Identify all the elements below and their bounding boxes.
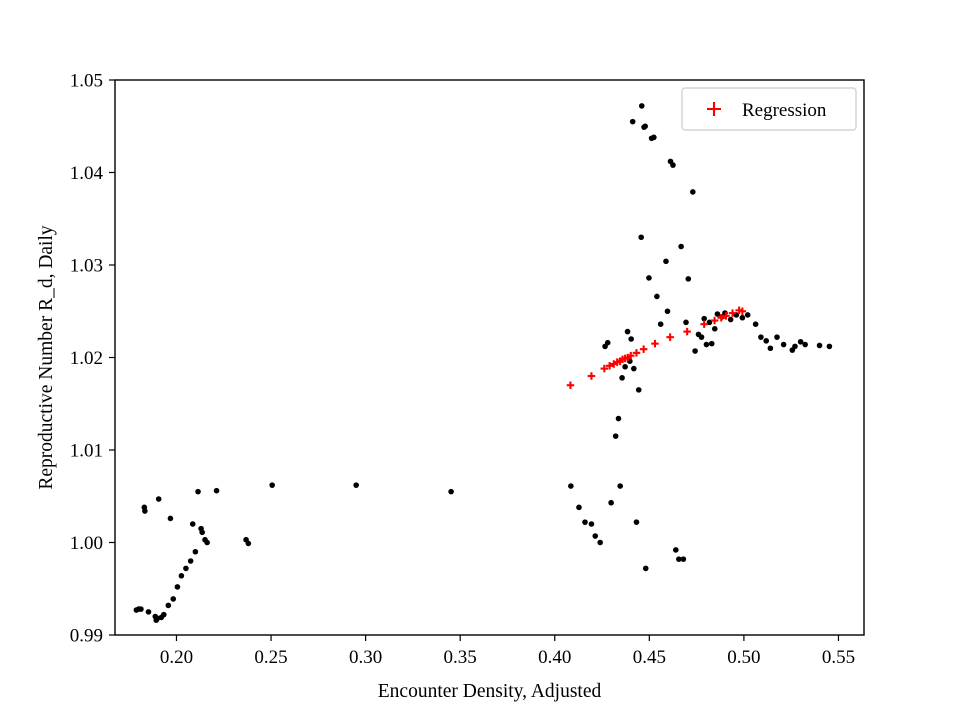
data-point <box>792 344 798 350</box>
data-point <box>161 612 167 618</box>
y-tick-label: 1.00 <box>70 533 103 554</box>
data-point <box>712 326 718 332</box>
data-point <box>665 308 671 314</box>
x-tick-label: 0.45 <box>633 647 666 668</box>
x-tick-label: 0.30 <box>349 647 382 668</box>
data-point <box>642 123 648 129</box>
y-tick-label: 1.05 <box>70 71 103 92</box>
y-tick-label: 1.04 <box>70 163 104 184</box>
y-tick-label: 0.99 <box>70 626 103 647</box>
data-point <box>576 505 582 511</box>
data-point <box>740 315 746 321</box>
data-point <box>246 541 252 547</box>
data-point <box>353 482 359 488</box>
x-tick-label: 0.50 <box>727 647 760 668</box>
data-point <box>651 135 657 141</box>
regression-marker <box>651 340 659 348</box>
data-point <box>199 530 205 536</box>
data-point <box>646 275 652 281</box>
data-point <box>758 334 764 340</box>
y-tick-label: 1.02 <box>70 348 103 369</box>
data-point <box>673 547 679 553</box>
data-point <box>802 342 808 348</box>
data-point <box>190 521 196 527</box>
data-point <box>638 234 644 240</box>
data-point <box>683 320 689 326</box>
x-tick-label: 0.20 <box>160 647 193 668</box>
data-point <box>622 364 628 370</box>
regression-marker <box>588 372 596 380</box>
data-point <box>625 329 631 335</box>
y-tick-label: 1.01 <box>70 441 103 462</box>
data-point <box>142 508 148 514</box>
data-point <box>681 556 687 562</box>
x-tick-label: 0.35 <box>444 647 477 668</box>
data-point <box>781 342 787 348</box>
data-point <box>188 558 194 564</box>
x-tick-label: 0.25 <box>254 647 287 668</box>
data-point <box>193 549 199 555</box>
data-points-group <box>134 103 833 623</box>
data-point <box>774 334 780 340</box>
axes-frame-rect <box>115 80 864 635</box>
data-point <box>179 573 185 579</box>
data-point <box>582 519 588 525</box>
data-point <box>753 321 759 327</box>
data-point <box>631 366 637 372</box>
data-point <box>619 375 625 381</box>
data-point <box>639 103 645 109</box>
data-point <box>827 344 833 350</box>
data-point <box>685 276 691 282</box>
data-point <box>589 521 595 527</box>
legend-entry-label: Regression <box>742 100 827 121</box>
plot-canvas: 0.200.250.300.350.400.450.500.55 0.991.0… <box>0 0 960 720</box>
data-point <box>715 311 721 317</box>
data-point <box>214 488 220 494</box>
data-point <box>166 603 172 609</box>
data-point <box>745 312 751 318</box>
data-point <box>634 519 640 525</box>
data-point <box>146 609 152 615</box>
regression-marker <box>567 382 575 390</box>
data-point <box>763 338 769 344</box>
data-point <box>709 341 715 347</box>
data-point <box>817 343 823 349</box>
data-point <box>663 259 669 265</box>
data-point <box>592 533 598 539</box>
data-point <box>195 489 201 495</box>
data-point <box>204 540 210 546</box>
data-point <box>608 500 614 506</box>
data-point <box>768 345 774 351</box>
x-tick-label: 0.40 <box>538 647 571 668</box>
data-point <box>605 340 611 346</box>
x-tick-label: 0.55 <box>822 647 855 668</box>
data-point <box>168 516 174 522</box>
data-point <box>597 540 603 546</box>
data-point <box>616 416 622 422</box>
y-tick-label: 1.03 <box>70 256 103 277</box>
data-point <box>670 162 676 168</box>
data-point <box>630 119 636 125</box>
axes-frame <box>115 80 864 635</box>
y-axis-title: Reproductive Number R_d, Daily <box>36 225 57 490</box>
data-point <box>448 489 454 495</box>
data-point <box>728 317 734 323</box>
data-point <box>138 606 144 612</box>
data-point <box>156 496 162 502</box>
data-point <box>628 336 634 342</box>
data-point <box>690 189 696 195</box>
data-point <box>613 433 619 439</box>
x-axis-title: Encounter Density, Adjusted <box>378 681 602 702</box>
data-point <box>692 348 698 354</box>
x-axis-ticks: 0.200.250.300.350.400.450.500.55 <box>160 635 855 668</box>
data-point <box>269 482 275 488</box>
data-point <box>654 294 660 300</box>
regression-marker <box>666 333 674 341</box>
data-point <box>704 342 710 348</box>
regression-marker <box>640 345 648 353</box>
data-point <box>617 483 623 489</box>
y-axis-ticks: 0.991.001.011.021.031.041.05 <box>70 71 115 647</box>
data-point <box>175 584 181 590</box>
data-point <box>568 483 574 489</box>
regression-marker <box>683 328 691 336</box>
data-point <box>170 596 176 602</box>
regression-markers-group <box>567 307 746 389</box>
scatter-plot-figure: 0.200.250.300.350.400.450.500.55 0.991.0… <box>0 0 960 720</box>
data-point <box>699 334 705 340</box>
data-point <box>678 244 684 250</box>
data-point <box>183 566 189 572</box>
data-point <box>643 566 649 572</box>
data-point <box>636 387 642 393</box>
legend[interactable]: Regression <box>682 88 856 130</box>
data-point <box>658 321 664 327</box>
